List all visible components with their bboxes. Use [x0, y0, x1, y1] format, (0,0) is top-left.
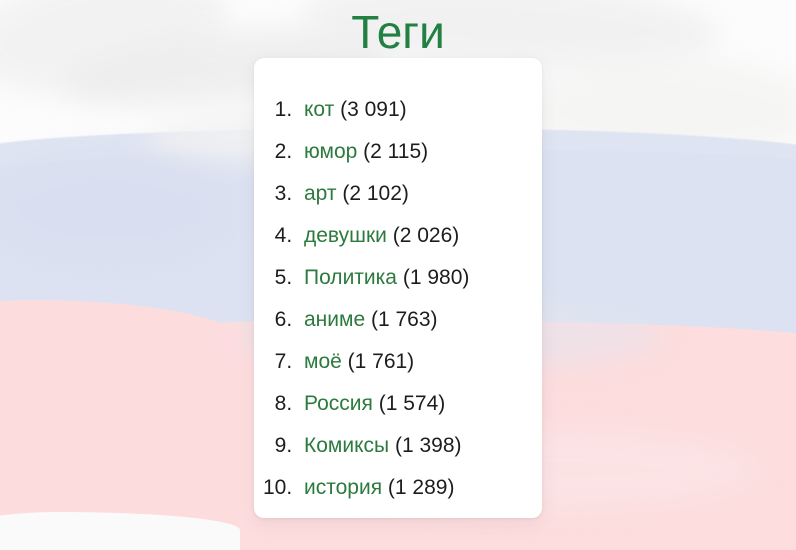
tag-link[interactable]: арт	[304, 182, 337, 205]
tag-link[interactable]: кот	[304, 98, 334, 121]
tags-card: кот (3 091) юмор (2 115) арт (2 102) дев…	[254, 58, 542, 518]
tag-link[interactable]: Комиксы	[304, 434, 389, 457]
list-item: Россия (1 574)	[298, 383, 542, 425]
tag-count: (1 289)	[388, 476, 455, 499]
list-item: девушки (2 026)	[298, 215, 542, 257]
tag-link[interactable]: юмор	[304, 140, 357, 163]
page-root: Теги кот (3 091) юмор (2 115) арт (2 102…	[0, 0, 796, 550]
tag-count: (1 980)	[403, 266, 470, 289]
tag-link[interactable]: аниме	[304, 308, 365, 331]
tag-count: (1 574)	[379, 392, 446, 415]
tag-link[interactable]: Россия	[304, 392, 373, 415]
tag-count: (2 115)	[363, 140, 428, 163]
tag-link[interactable]: история	[304, 476, 382, 499]
tags-list: кот (3 091) юмор (2 115) арт (2 102) дев…	[254, 58, 542, 509]
list-item: история (1 289)	[298, 467, 542, 509]
list-item: юмор (2 115)	[298, 131, 542, 173]
tag-link[interactable]: Политика	[304, 266, 397, 289]
tag-link[interactable]: девушки	[304, 224, 387, 247]
list-item: арт (2 102)	[298, 173, 542, 215]
tag-count: (1 763)	[371, 308, 438, 331]
list-item: кот (3 091)	[298, 89, 542, 131]
list-item: Политика (1 980)	[298, 257, 542, 299]
page-title: Теги	[0, 2, 796, 62]
tag-count: (1 398)	[395, 434, 462, 457]
tag-link[interactable]: моё	[304, 350, 342, 373]
list-item: Комиксы (1 398)	[298, 425, 542, 467]
tag-count: (2 102)	[342, 182, 409, 205]
list-item: моё (1 761)	[298, 341, 542, 383]
list-item: аниме (1 763)	[298, 299, 542, 341]
tag-count: (1 761)	[348, 350, 415, 373]
tag-count: (3 091)	[340, 98, 407, 121]
tag-count: (2 026)	[393, 224, 460, 247]
